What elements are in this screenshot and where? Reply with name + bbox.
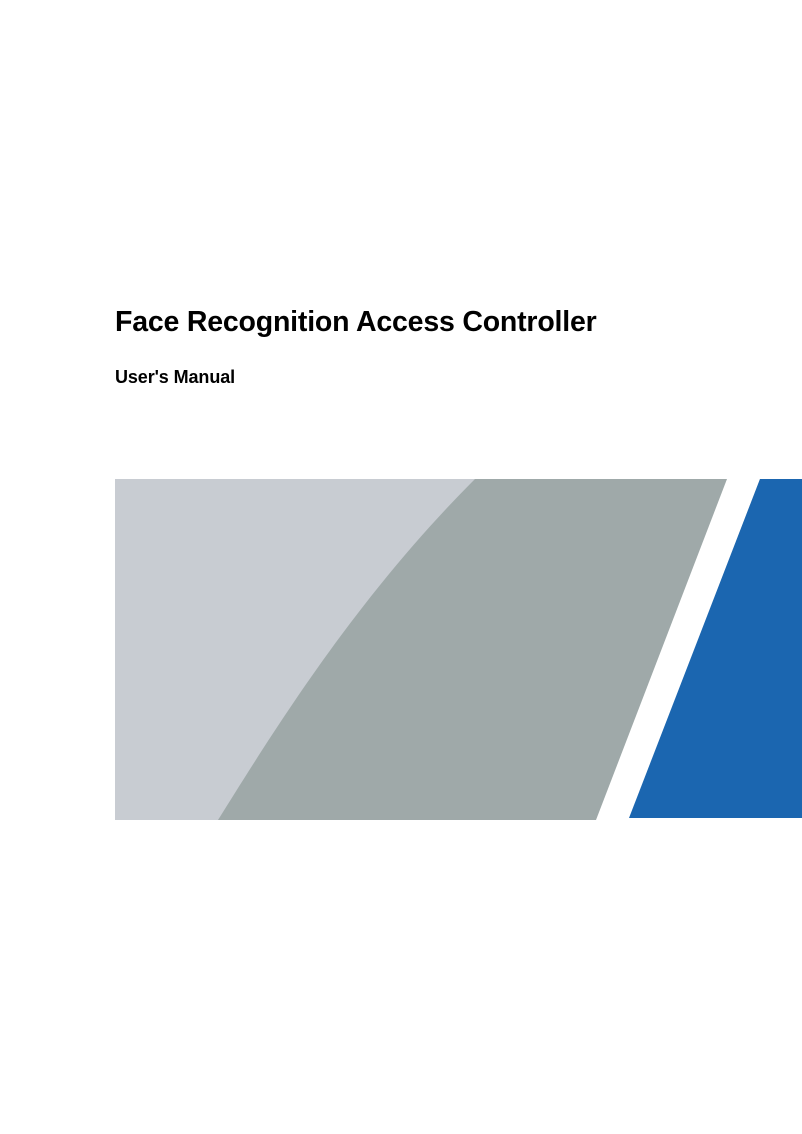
page-title: Face Recognition Access Controller [115,305,735,340]
cover-banner-graphic [115,479,802,821]
document-page: Face Recognition Access Controller User'… [0,0,802,1134]
page-subtitle: User's Manual [115,340,735,388]
title-block: Face Recognition Access Controller User'… [115,305,735,389]
cover-banner-svg [115,479,802,821]
banner-blue-bottom-trim [629,818,802,821]
